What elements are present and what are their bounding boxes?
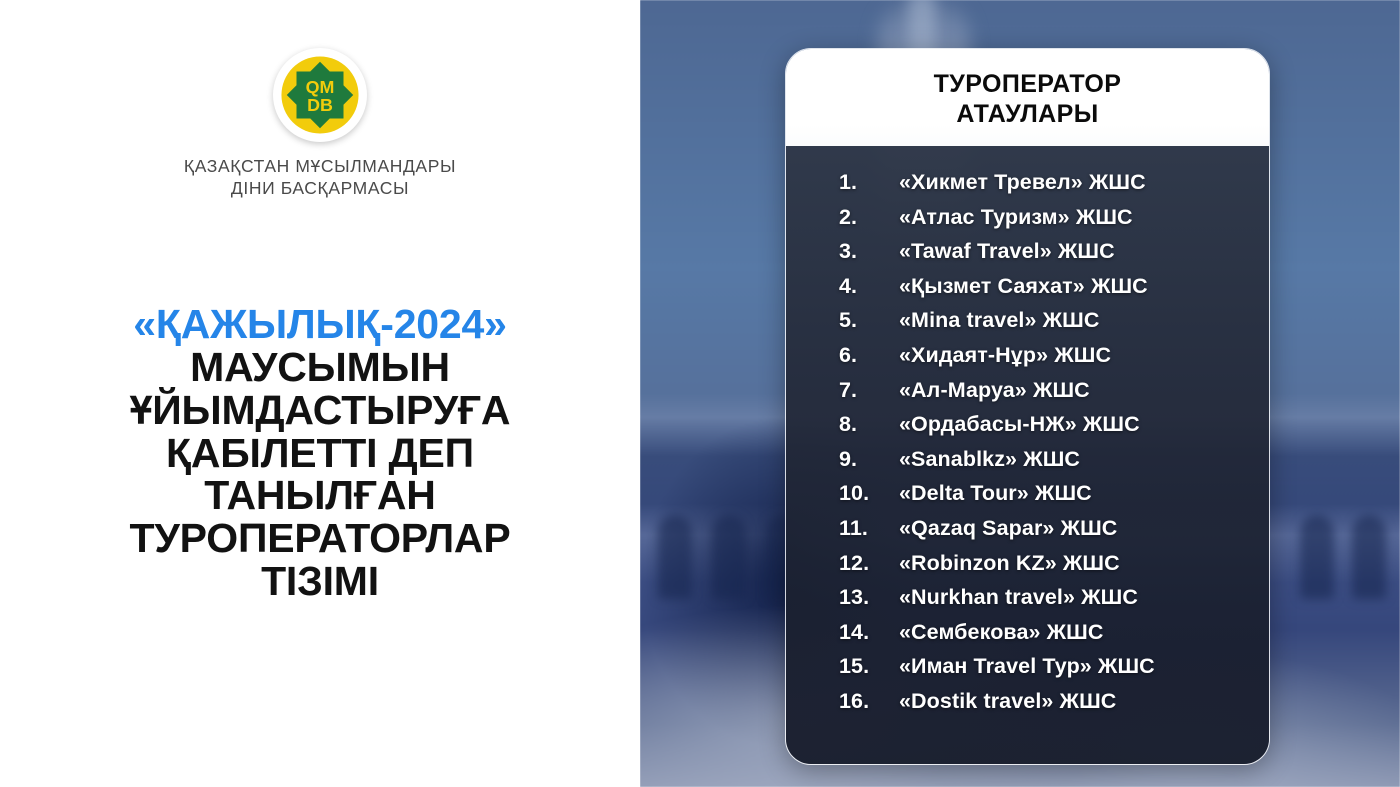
page-title-line-1: «ҚАЖЫЛЫҚ-2024» xyxy=(0,303,640,346)
brand-block: QM DB ҚАЗАҚСТАН МҰСЫЛМАНДАРЫ ДІНИ БАСҚАР… xyxy=(0,48,640,200)
card-header: ТУРОПЕРАТОР АТАУЛАРЫ xyxy=(786,49,1269,146)
left-panel: QM DB ҚАЗАҚСТАН МҰСЫЛМАНДАРЫ ДІНИ БАСҚАР… xyxy=(0,0,640,787)
list-item-number: 7. xyxy=(839,378,899,403)
list-item: 7.«Ал-Маруа» ЖШС xyxy=(839,378,1269,413)
list-item-number: 8. xyxy=(839,412,899,437)
page-title-line-4: ҚАБІЛЕТТІ ДЕП xyxy=(0,432,640,475)
list-item: 16.«Dostik travel» ЖШС xyxy=(839,689,1269,724)
list-item: 9.«Sanablkz» ЖШС xyxy=(839,447,1269,482)
pillar-icon xyxy=(1352,515,1386,599)
list-item-name: «Қызмет Саяхат» ЖШС xyxy=(899,274,1148,299)
page-title-line-5: ТАНЫЛҒАН xyxy=(0,474,640,517)
pillar-icon xyxy=(712,515,746,599)
poster-root: QM DB ҚАЗАҚСТАН МҰСЫЛМАНДАРЫ ДІНИ БАСҚАР… xyxy=(0,0,1400,787)
page-title-line-6: ТУРОПЕРАТОРЛАР xyxy=(0,517,640,560)
page-title-line-7: ТІЗІМІ xyxy=(0,560,640,603)
list-item: 15.«Иман Travel Тур» ЖШС xyxy=(839,654,1269,689)
pillar-icon xyxy=(1300,515,1334,599)
list-item: 3.«Tawaf Travel» ЖШС xyxy=(839,239,1269,274)
list-item-number: 13. xyxy=(839,585,899,610)
list-item: 14.«Сембекова» ЖШС xyxy=(839,620,1269,655)
list-item: 2.«Атлас Туризм» ЖШС xyxy=(839,205,1269,240)
list-item: 1.«Хикмет Тревел» ЖШС xyxy=(839,170,1269,205)
list-item: 13.«Nurkhan travel» ЖШС xyxy=(839,585,1269,620)
list-item-number: 6. xyxy=(839,343,899,368)
list-item-number: 3. xyxy=(839,239,899,264)
list-item-name: «Dostik travel» ЖШС xyxy=(899,689,1116,714)
list-item-number: 14. xyxy=(839,620,899,645)
organization-name: ҚАЗАҚСТАН МҰСЫЛМАНДАРЫ ДІНИ БАСҚАРМАСЫ xyxy=(110,155,530,200)
operator-list: 1.«Хикмет Тревел» ЖШС2.«Атлас Туризм» ЖШ… xyxy=(786,170,1269,724)
list-item-number: 15. xyxy=(839,654,899,679)
card-header-title: ТУРОПЕРАТОР АТАУЛАРЫ xyxy=(934,70,1122,129)
list-item-number: 11. xyxy=(839,516,899,541)
list-item-name: «Ал-Маруа» ЖШС xyxy=(899,378,1090,403)
list-item-number: 10. xyxy=(839,481,899,506)
list-item-number: 9. xyxy=(839,447,899,472)
qmdb-emblem-icon: QM DB xyxy=(273,48,367,142)
pillar-icon xyxy=(658,515,692,599)
list-item: 4.«Қызмет Саяхат» ЖШС xyxy=(839,274,1269,309)
list-item-name: «Хидаят-Нұр» ЖШС xyxy=(899,343,1111,368)
list-item: 6.«Хидаят-Нұр» ЖШС xyxy=(839,343,1269,378)
list-item-number: 2. xyxy=(839,205,899,230)
operator-list-card: ТУРОПЕРАТОР АТАУЛАРЫ 1.«Хикмет Тревел» Ж… xyxy=(785,48,1270,765)
list-item: 10.«Delta Tour» ЖШС xyxy=(839,481,1269,516)
list-item: 11.«Qazaq Sapar» ЖШС xyxy=(839,516,1269,551)
list-item-name: «Ордабасы-НЖ» ЖШС xyxy=(899,412,1140,437)
list-item-name: «Иман Travel Тур» ЖШС xyxy=(899,654,1155,679)
list-item-name: «Хикмет Тревел» ЖШС xyxy=(899,170,1146,195)
list-item-name: «Qazaq Sapar» ЖШС xyxy=(899,516,1117,541)
list-item-number: 16. xyxy=(839,689,899,714)
page-title: «ҚАЖЫЛЫҚ-2024»МАУСЫМЫНҰЙЫМДАСТЫРУҒАҚАБІЛ… xyxy=(0,303,640,603)
list-item-name: «Tawaf Travel» ЖШС xyxy=(899,239,1115,264)
list-item-name: «Delta Tour» ЖШС xyxy=(899,481,1092,506)
page-title-line-3: ҰЙЫМДАСТЫРУҒА xyxy=(0,389,640,432)
list-item-name: «Mina travel» ЖШС xyxy=(899,308,1099,333)
svg-text:DB: DB xyxy=(307,95,333,115)
right-panel: ТУРОПЕРАТОР АТАУЛАРЫ 1.«Хикмет Тревел» Ж… xyxy=(640,0,1400,787)
page-title-line-2: МАУСЫМЫН xyxy=(0,346,640,389)
list-item-name: «Сембекова» ЖШС xyxy=(899,620,1104,645)
list-item-number: 12. xyxy=(839,551,899,576)
list-item: 12.«Robinzon KZ» ЖШС xyxy=(839,551,1269,586)
card-body: 1.«Хикмет Тревел» ЖШС2.«Атлас Туризм» ЖШ… xyxy=(786,146,1269,764)
list-item-number: 1. xyxy=(839,170,899,195)
list-item: 5.«Mina travel» ЖШС xyxy=(839,308,1269,343)
list-item-name: «Nurkhan travel» ЖШС xyxy=(899,585,1138,610)
list-item-number: 5. xyxy=(839,308,899,333)
list-item-name: «Robinzon KZ» ЖШС xyxy=(899,551,1120,576)
list-item-name: «Атлас Туризм» ЖШС xyxy=(899,205,1133,230)
list-item: 8.«Ордабасы-НЖ» ЖШС xyxy=(839,412,1269,447)
list-item-name: «Sanablkz» ЖШС xyxy=(899,447,1080,472)
list-item-number: 4. xyxy=(839,274,899,299)
